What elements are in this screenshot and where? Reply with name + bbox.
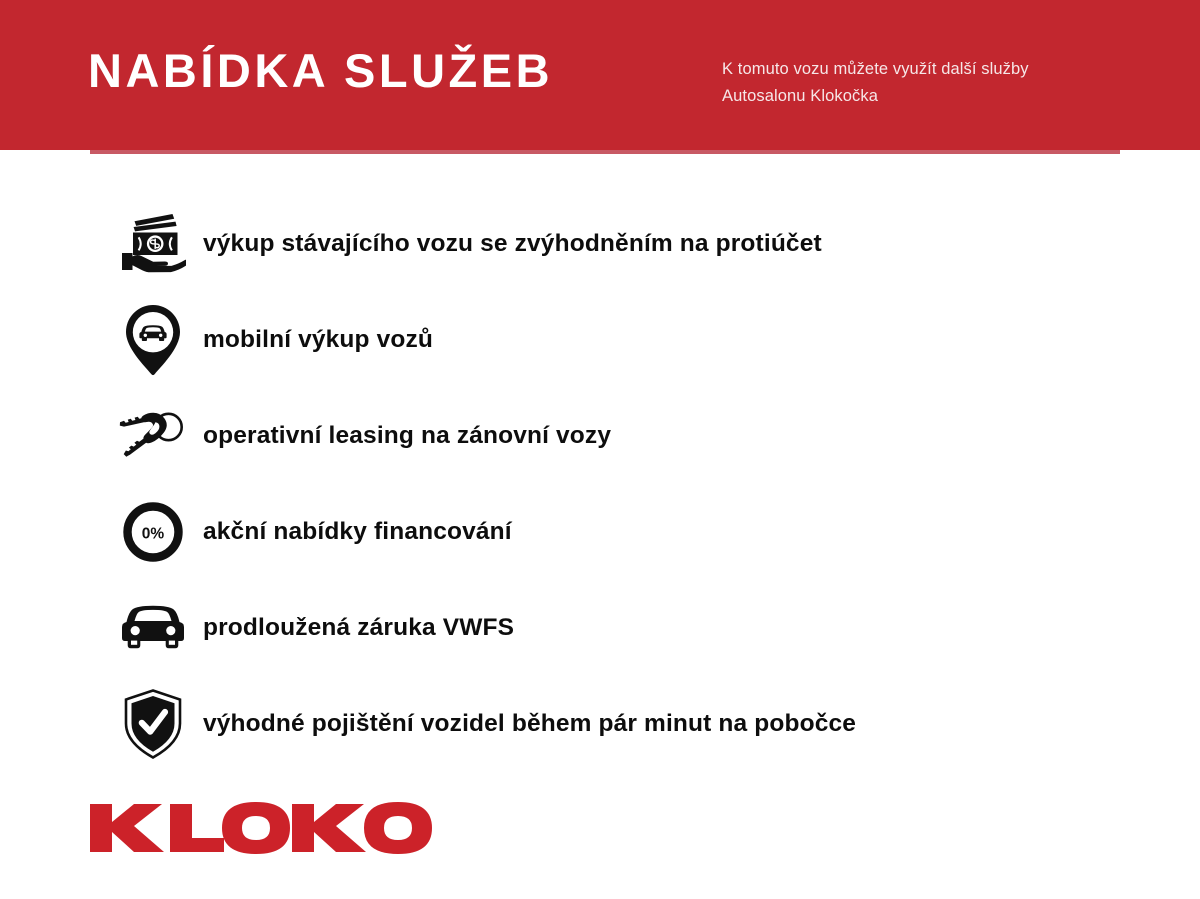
service-offer-page: NABÍDKA SLUŽEB K tomuto vozu můžete využ… bbox=[0, 0, 1200, 899]
page-title: NABÍDKA SLUŽEB bbox=[88, 47, 553, 94]
list-item-label: prodloužená záruka VWFS bbox=[203, 614, 514, 642]
list-item: výhodné pojištění vozidel během pár minu… bbox=[0, 676, 1200, 772]
zero-percent-label: 0% bbox=[142, 526, 165, 543]
list-item: mobilní výkup vozů bbox=[0, 292, 1200, 388]
header-subtitle-line-2: Autosalonu Klokočka bbox=[722, 83, 1142, 110]
header-band-underline bbox=[90, 150, 1120, 154]
list-item-label: výkup stávajícího vozu se zvýhodněním na… bbox=[203, 230, 822, 258]
car-front-icon bbox=[118, 591, 188, 665]
list-item: operativní leasing na zánovní vozy bbox=[0, 388, 1200, 484]
list-item-label: akční nabídky financování bbox=[203, 518, 512, 546]
map-pin-car-icon bbox=[118, 303, 188, 377]
hand-holding-money-icon bbox=[118, 207, 188, 281]
list-item-label: operativní leasing na zánovní vozy bbox=[203, 422, 611, 450]
car-keys-icon bbox=[118, 399, 188, 473]
header-subtitle: K tomuto vozu můžete využít další služby… bbox=[722, 56, 1142, 109]
shield-check-icon bbox=[118, 687, 188, 761]
services-list: výkup stávajícího vozu se zvýhodněním na… bbox=[0, 196, 1200, 772]
list-item-label: mobilní výkup vozů bbox=[203, 326, 433, 354]
list-item-label: výhodné pojištění vozidel během pár minu… bbox=[203, 710, 856, 738]
list-item: prodloužená záruka VWFS bbox=[0, 580, 1200, 676]
list-item: výkup stávajícího vozu se zvýhodněním na… bbox=[0, 196, 1200, 292]
zero-percent-circle-icon: 0% bbox=[118, 495, 188, 569]
list-item: 0% akční nabídky financování bbox=[0, 484, 1200, 580]
header-subtitle-line-1: K tomuto vozu můžete využít další služby bbox=[722, 56, 1142, 83]
klokocka-logo bbox=[84, 786, 474, 854]
